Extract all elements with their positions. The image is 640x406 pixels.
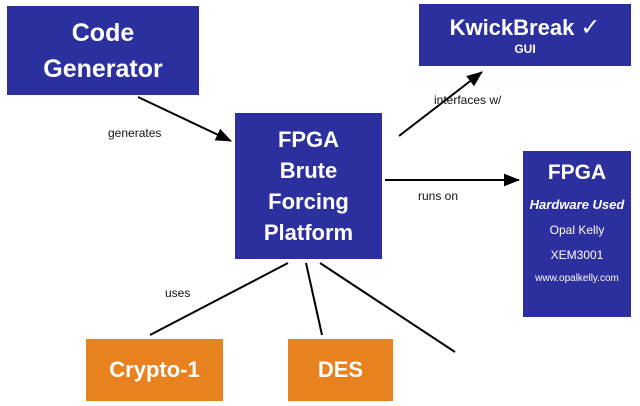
node-kwickbreak: KwickBreak ✓ GUI xyxy=(419,4,631,66)
node-code-generator-line1: Code xyxy=(72,15,135,51)
node-kwickbreak-title-row: KwickBreak ✓ xyxy=(450,15,601,41)
edge-uses-des xyxy=(306,263,322,335)
watermark-footer: 360安全播报（bobao.360.cn） xyxy=(428,381,593,398)
node-platform-line1: FPGA xyxy=(278,124,339,155)
node-platform-line3: Forcing xyxy=(268,186,349,217)
node-fpga-vendor: Opal Kelly xyxy=(550,223,605,237)
watermark-brand-text: WhiteCellClub xyxy=(452,358,560,375)
node-fpga-title: FPGA xyxy=(548,161,606,185)
node-kwickbreak-title: KwickBreak xyxy=(450,15,575,41)
node-platform-line2: Brute xyxy=(280,155,337,186)
edge-label-interfaces-with: interfaces w/ xyxy=(434,93,501,107)
node-des-label: DES xyxy=(318,357,363,383)
node-fpga-hardware: FPGA Hardware Used Opal Kelly XEM3001 ww… xyxy=(523,151,631,317)
node-fpga-model: XEM3001 xyxy=(551,248,604,262)
edge-label-generates: generates xyxy=(108,126,161,140)
node-crypto1: Crypto-1 xyxy=(86,339,223,401)
node-des: DES xyxy=(288,339,393,401)
node-fpga-url: www.opalkelly.com xyxy=(535,273,619,284)
node-fpga-hardware-used: Hardware Used xyxy=(530,197,625,212)
node-platform-line4: Platform xyxy=(264,217,353,248)
diagram-canvas: Code Generator KwickBreak ✓ GUI FPGA Bru… xyxy=(0,0,640,406)
node-crypto1-label: Crypto-1 xyxy=(109,357,199,383)
edge-label-uses: uses xyxy=(165,286,190,300)
node-kwickbreak-subtitle: GUI xyxy=(514,42,535,56)
node-code-generator-line2: Generator xyxy=(43,51,162,87)
edge-label-runs-on: runs on xyxy=(418,189,458,203)
node-fpga-brute-forcing-platform: FPGA Brute Forcing Platform xyxy=(235,113,382,259)
whitecellclub-logo-icon xyxy=(428,357,447,376)
checkmark-icon: ✓ xyxy=(580,16,600,40)
node-code-generator: Code Generator xyxy=(7,6,199,95)
watermark-brand: WhiteCellClub xyxy=(428,357,560,376)
